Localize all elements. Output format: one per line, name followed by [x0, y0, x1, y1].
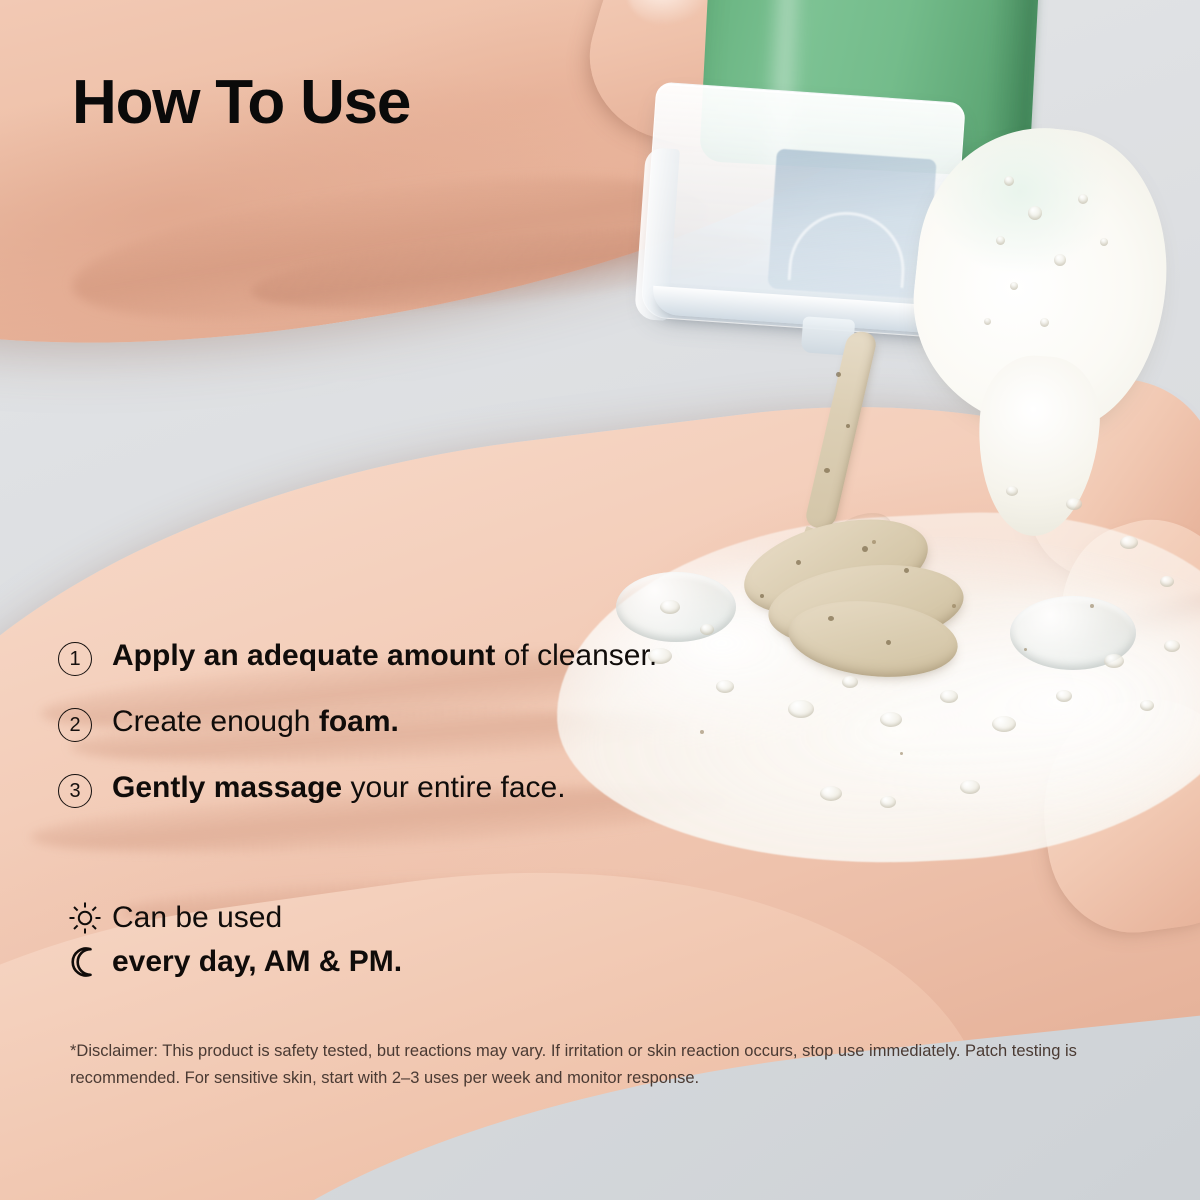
foam-bubble — [700, 624, 714, 635]
foam-bubble — [842, 676, 858, 688]
exfoliant-speck — [846, 424, 850, 428]
sun-icon — [58, 901, 112, 935]
infographic-canvas: How To Use 1 Apply an adequate amount of… — [0, 0, 1200, 1200]
usage-text-night-bold: every day, AM & PM. — [112, 945, 402, 978]
step-text-2: Create enough foam. — [112, 702, 399, 741]
step-number-3: 3 — [69, 781, 80, 801]
step-number-badge-2: 2 — [58, 708, 92, 742]
foam-bubble — [1164, 640, 1180, 652]
foam-bubble — [1028, 206, 1042, 220]
exfoliant-speck — [760, 594, 764, 598]
step-text-3: Gently massage your entire face. — [112, 768, 566, 807]
foam-speck — [1090, 604, 1094, 608]
step-item-3: 3 Gently massage your entire face. — [58, 768, 758, 808]
step-number-badge-3: 3 — [58, 774, 92, 808]
foam-bubble — [1006, 486, 1018, 496]
exfoliant-speck — [904, 568, 909, 573]
usage-row-day: Can be used — [58, 896, 402, 940]
step-text-1: Apply an adequate amount of cleanser. — [112, 636, 657, 675]
disclaimer-text: *Disclaimer: This product is safety test… — [70, 1038, 1090, 1091]
foam-bubble — [1056, 690, 1072, 702]
foam-bubble — [984, 318, 991, 325]
foam-bubble — [996, 236, 1005, 245]
foam-bubble — [880, 796, 896, 808]
foam-speck — [872, 540, 876, 544]
exfoliant-speck — [886, 640, 891, 645]
moon-icon — [58, 945, 112, 979]
usage-text-day: Can be used — [112, 900, 282, 936]
foam-bubble — [1100, 238, 1108, 246]
step-text-1-regular: of cleanser. — [495, 639, 657, 672]
foam-bubble — [940, 690, 958, 703]
step-text-3-regular: your entire face. — [342, 771, 565, 804]
usage-frequency-block: Can be used every day, AM & PM. — [58, 896, 402, 984]
foam-bubble — [1120, 536, 1138, 549]
step-number-1: 1 — [69, 649, 80, 669]
foam-speck — [1024, 648, 1027, 651]
foam-bubble — [788, 700, 814, 718]
step-text-1-bold: Apply an adequate amount — [112, 639, 495, 672]
foam-bubble — [1040, 318, 1049, 327]
foam-bubble — [660, 600, 680, 614]
foam-bubble — [1078, 194, 1088, 204]
step-number-badge-1: 1 — [58, 642, 92, 676]
step-text-2-regular: Create enough — [112, 705, 319, 738]
exfoliant-speck — [862, 546, 868, 552]
foam-bubble — [1066, 498, 1082, 510]
foam-bubble — [1140, 700, 1154, 711]
foam-bubble — [820, 786, 842, 801]
foam-speck — [900, 752, 903, 755]
step-item-2: 2 Create enough foam. — [58, 702, 758, 742]
step-number-2: 2 — [69, 715, 80, 735]
exfoliant-speck — [824, 468, 830, 473]
foam-bubble — [1104, 654, 1124, 668]
foam-bubble — [1004, 176, 1014, 186]
exfoliant-speck — [836, 372, 841, 377]
step-text-2-bold: foam. — [319, 705, 399, 738]
foam-bubble — [1054, 254, 1066, 266]
step-item-1: 1 Apply an adequate amount of cleanser. — [58, 636, 758, 676]
steps-list: 1 Apply an adequate amount of cleanser. … — [58, 636, 758, 808]
foam-bubble — [960, 780, 980, 794]
usage-row-night: every day, AM & PM. — [58, 940, 402, 984]
exfoliant-speck — [796, 560, 801, 565]
page-title: How To Use — [72, 72, 410, 134]
step-text-3-bold: Gently massage — [112, 771, 342, 804]
foam-bubble — [1010, 282, 1018, 290]
foam-bubble — [1160, 576, 1174, 587]
foam-bubble — [992, 716, 1016, 732]
usage-text-night: every day, AM & PM. — [112, 944, 402, 980]
foam-speck — [952, 604, 956, 608]
foam-bubble — [880, 712, 902, 727]
exfoliant-speck — [828, 616, 834, 621]
